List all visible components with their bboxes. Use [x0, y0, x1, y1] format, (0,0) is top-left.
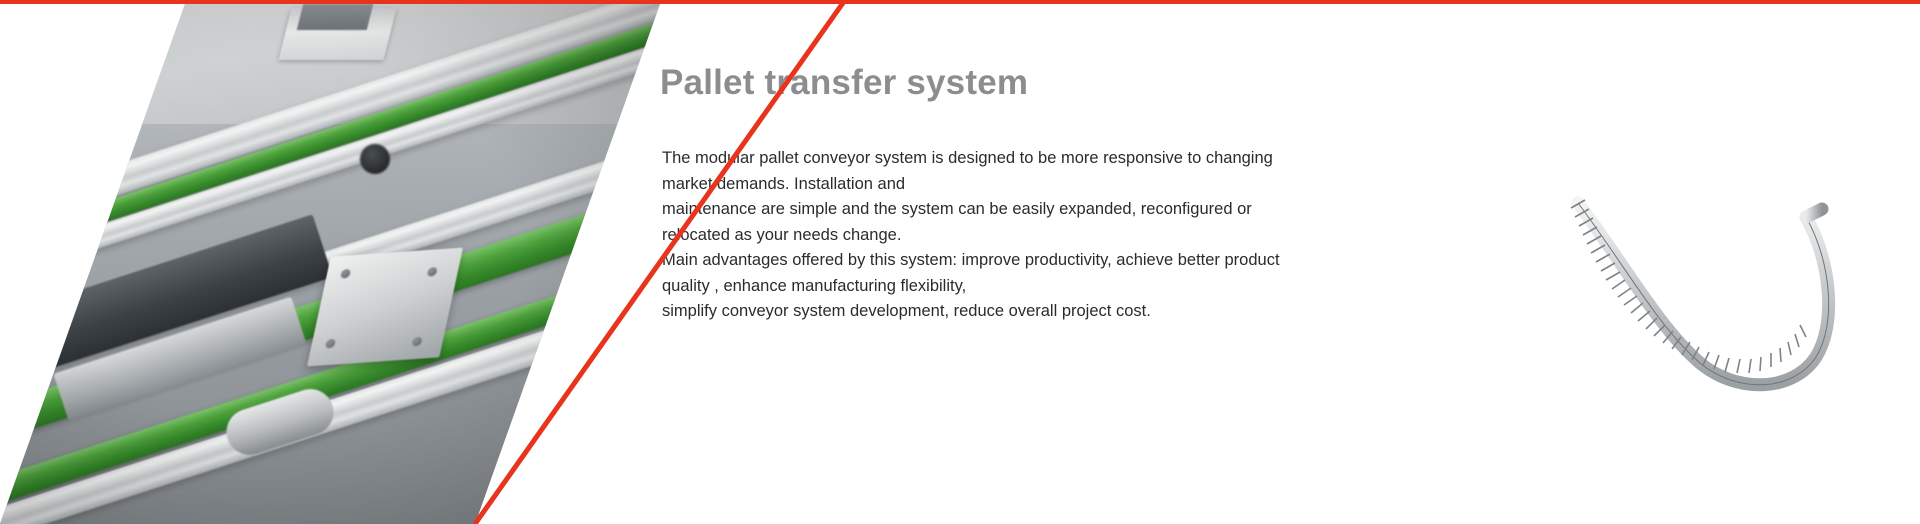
pallet-conveyor-photo — [0, 4, 660, 524]
top-accent-rule — [0, 0, 1920, 4]
belt-back-band — [1578, 203, 1829, 385]
belt-free-end — [1806, 209, 1822, 217]
body-line: market demands. Installation and — [662, 172, 1402, 198]
page-title: Pallet transfer system — [660, 63, 1028, 103]
body-line: quality , enhance manufacturing flexibil… — [662, 274, 1402, 300]
photo-vignette — [0, 4, 660, 524]
body-line: relocated as your needs change. — [662, 223, 1402, 249]
body-line: Main advantages offered by this system: … — [662, 248, 1402, 274]
pallet-transfer-system-banner: Pallet transfer system The modular palle… — [0, 0, 1920, 524]
body-copy: The modular pallet conveyor system is de… — [662, 146, 1402, 325]
toothed-timing-belt-illustration — [1560, 195, 1880, 405]
body-line: The modular pallet conveyor system is de… — [662, 146, 1402, 172]
body-line: simplify conveyor system development, re… — [662, 299, 1402, 325]
body-line: maintenance are simple and the system ca… — [662, 197, 1402, 223]
